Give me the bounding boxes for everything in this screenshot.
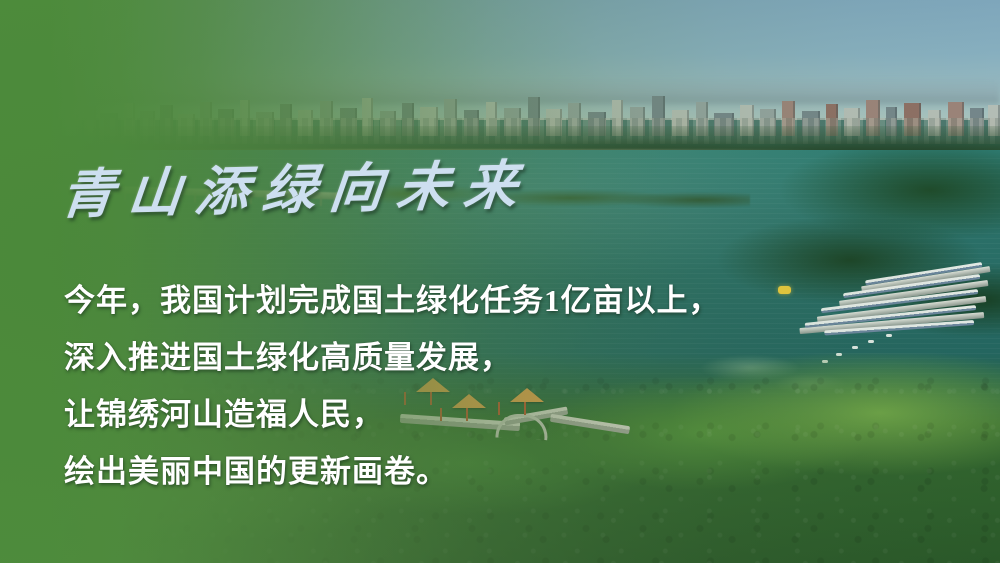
body-line-1: 今年，我国计划完成国土绿化任务1亿亩以上， [64,272,824,329]
body-line-2: 深入推进国土绿化高质量发展， [64,329,824,386]
poster-title: 青山添绿向未来 [58,143,536,229]
body-line-3: 让锦绣河山造福人民， [64,386,824,443]
poster-body: 今年，我国计划完成国土绿化任务1亿亩以上， 深入推进国土绿化高质量发展， 让锦绣… [64,272,824,500]
body-line-4: 绘出美丽中国的更新画卷。 [64,443,824,500]
poster-canvas: 青山添绿向未来 今年，我国计划完成国土绿化任务1亿亩以上， 深入推进国土绿化高质… [0,0,1000,563]
